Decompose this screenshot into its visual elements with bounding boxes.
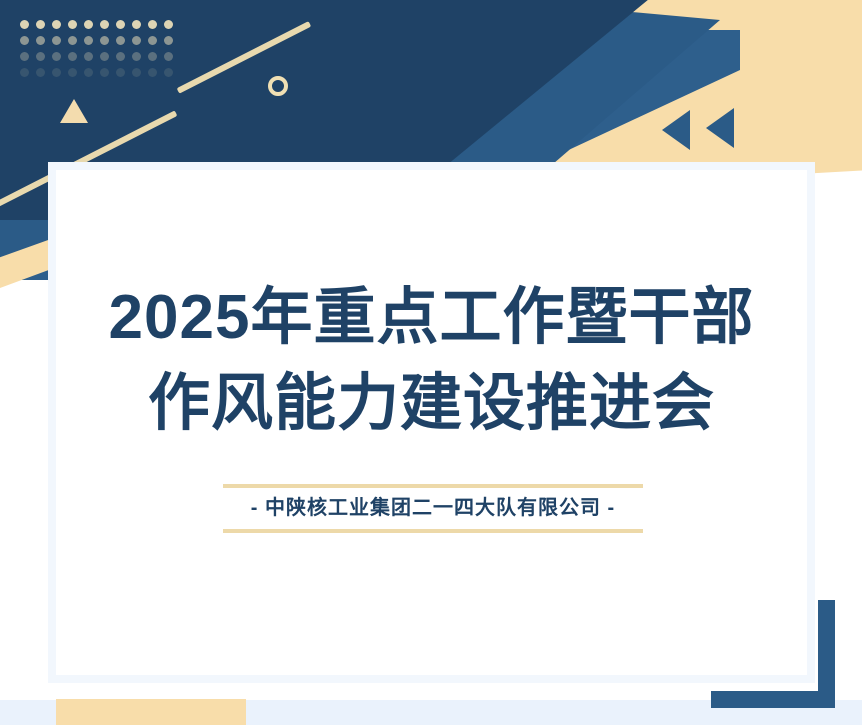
triangle-up-icon — [60, 99, 88, 123]
grid-dot — [164, 68, 173, 77]
grid-dot — [20, 52, 29, 61]
grid-dot — [132, 68, 141, 77]
grid-dot — [68, 68, 77, 77]
grid-dot — [132, 52, 141, 61]
grid-dot — [100, 36, 109, 45]
grid-dot — [68, 36, 77, 45]
title-line-2: 作风能力建设推进会 — [56, 361, 807, 447]
grid-dot — [116, 52, 125, 61]
grid-dot — [164, 20, 173, 29]
grid-dot — [52, 52, 61, 61]
grid-dot — [20, 36, 29, 45]
grid-dot — [100, 52, 109, 61]
grid-dot — [100, 20, 109, 29]
grid-dot — [52, 36, 61, 45]
grid-dot — [84, 20, 93, 29]
grid-dot — [84, 52, 93, 61]
arrow-left-icon — [706, 108, 734, 148]
poster-canvas: 2025年重点工作暨干部 作风能力建设推进会 - 中陕核工业集团二一四大队有限公… — [0, 0, 862, 725]
grid-dot — [116, 20, 125, 29]
grid-dot — [100, 68, 109, 77]
dot-grid-decor — [20, 20, 180, 84]
grid-dot — [116, 36, 125, 45]
circle-outline-icon — [268, 76, 288, 96]
grid-dot — [148, 68, 157, 77]
grid-dot — [84, 36, 93, 45]
gold-bar-bottom-left — [56, 699, 246, 725]
grid-dot — [68, 20, 77, 29]
grid-dot — [148, 20, 157, 29]
grid-dot — [148, 36, 157, 45]
gold-rule-bottom — [223, 529, 643, 533]
grid-dot — [132, 20, 141, 29]
title-line-1: 2025年重点工作暨干部 — [56, 275, 807, 361]
arrow-left-icon — [662, 110, 690, 150]
grid-dot — [52, 68, 61, 77]
grid-dot — [132, 36, 141, 45]
grid-dot — [164, 36, 173, 45]
corner-bracket-horizontal — [711, 691, 835, 708]
grid-dot — [36, 52, 45, 61]
subtitle-block: - 中陕核工业集团二一四大队有限公司 - — [223, 484, 643, 533]
page-title: 2025年重点工作暨干部 作风能力建设推进会 — [56, 275, 807, 447]
grid-dot — [148, 52, 157, 61]
grid-dot — [116, 68, 125, 77]
grid-dot — [36, 36, 45, 45]
grid-dot — [164, 52, 173, 61]
grid-dot — [36, 68, 45, 77]
grid-dot — [20, 68, 29, 77]
grid-dot — [84, 68, 93, 77]
grid-dot — [20, 20, 29, 29]
organization-name: - 中陕核工业集团二一四大队有限公司 - — [223, 488, 643, 529]
grid-dot — [52, 20, 61, 29]
grid-dot — [36, 20, 45, 29]
grid-dot — [68, 52, 77, 61]
